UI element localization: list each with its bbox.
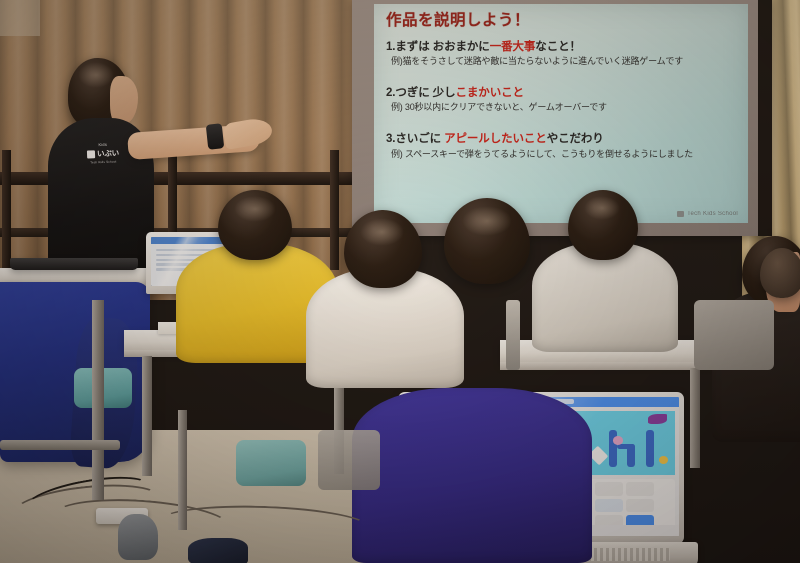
student-far-head <box>760 248 800 298</box>
table-leg <box>178 410 187 530</box>
slide-heading: 1.まずは おおまかに一番大事なこと！ <box>386 40 738 54</box>
chair[interactable] <box>236 440 306 486</box>
shirt-logo-line2: いぶい <box>87 147 119 159</box>
slide-spacer <box>386 120 738 132</box>
shirt-logo-mark-icon <box>87 150 95 158</box>
table-leg <box>142 356 152 476</box>
chair[interactable] <box>318 430 380 490</box>
slide-block-1: 1.まずは おおまかに一番大事なこと！ 例)猫をそうさして迷路や敵に当たらないよ… <box>386 40 738 68</box>
slide-heading-highlight: こまかいこと <box>456 87 524 99</box>
shirt-logo-line1: Kids <box>98 142 107 147</box>
backpack <box>188 538 248 563</box>
table-foot-bar <box>0 440 120 450</box>
slide-example: 例)猫をそうさして迷路や敵に当たらないように進んでいく迷路ゲームです <box>386 56 738 68</box>
slide-footer-logo-text: Tech Kids School <box>687 211 738 217</box>
rail-post <box>2 150 11 270</box>
student-white-head <box>344 210 422 288</box>
student-yellow-head <box>218 190 292 260</box>
slide-heading-prefix: 1.まずは おおまかに <box>386 41 490 53</box>
chair[interactable] <box>694 300 774 370</box>
rail-post <box>330 150 339 270</box>
projector-screen: 作品を説明しよう！ 1.まずは おおまかに一番大事なこと！ 例)猫をそうさして迷… <box>352 0 772 236</box>
slide-footer-logo: Tech Kids School <box>677 211 738 217</box>
slide-surface: 作品を説明しよう！ 1.まずは おおまかに一番大事なこと！ 例)猫をそうさして迷… <box>374 4 748 223</box>
table-leg <box>690 368 700 468</box>
slide-heading: 2.つぎに 少しこまかいこと <box>386 86 738 100</box>
instructor-shirt-logo: Kids いぶい Tech Kids School <box>80 141 127 165</box>
shirt-logo-line2-text: いぶい <box>97 147 119 159</box>
instructor-wristwatch <box>206 123 225 150</box>
slide-heading-highlight: アピールしたいこと <box>444 133 547 145</box>
laptop-closed[interactable] <box>10 258 138 270</box>
slide-spacer <box>386 74 738 86</box>
slide-block-3: 3.さいごに アピールしたいことやこだわり 例) スペースキーで弾をうてるように… <box>386 132 738 160</box>
slide-heading-prefix: 2.つぎに 少し <box>386 87 456 99</box>
slide-heading-suffix: なこと！ <box>535 41 581 53</box>
slide-block-2: 2.つぎに 少しこまかいこと 例) 30秒以内にクリアできないと、ゲームオーバー… <box>386 86 738 114</box>
slide-heading-prefix: 3.さいごに <box>386 133 444 145</box>
classroom-photo: 作品を説明しよう！ 1.まずは おおまかに一番大事なこと！ 例)猫をそうさして迷… <box>0 0 800 563</box>
wall-patch <box>0 0 40 36</box>
slide-example: 例) スペースキーで弾をうてるようにして、こうもりを倒せるようにしました <box>386 149 738 161</box>
slide-heading: 3.さいごに アピールしたいことやこだわり <box>386 132 738 146</box>
lanyard <box>506 300 520 370</box>
slide-heading-highlight: 一番大事 <box>490 41 536 53</box>
slide-heading-suffix: やこだわり <box>547 133 604 145</box>
slide-example: 例) 30秒以内にクリアできないと、ゲームオーバーです <box>386 102 738 114</box>
shoe <box>118 514 158 560</box>
tech-kids-mark-icon <box>677 211 684 217</box>
slide-title: 作品を説明しよう！ <box>386 12 738 29</box>
student-grey-head <box>568 190 638 260</box>
table-leg <box>92 300 104 500</box>
student-blue-head <box>444 198 530 284</box>
student-blue-torso <box>352 388 592 563</box>
